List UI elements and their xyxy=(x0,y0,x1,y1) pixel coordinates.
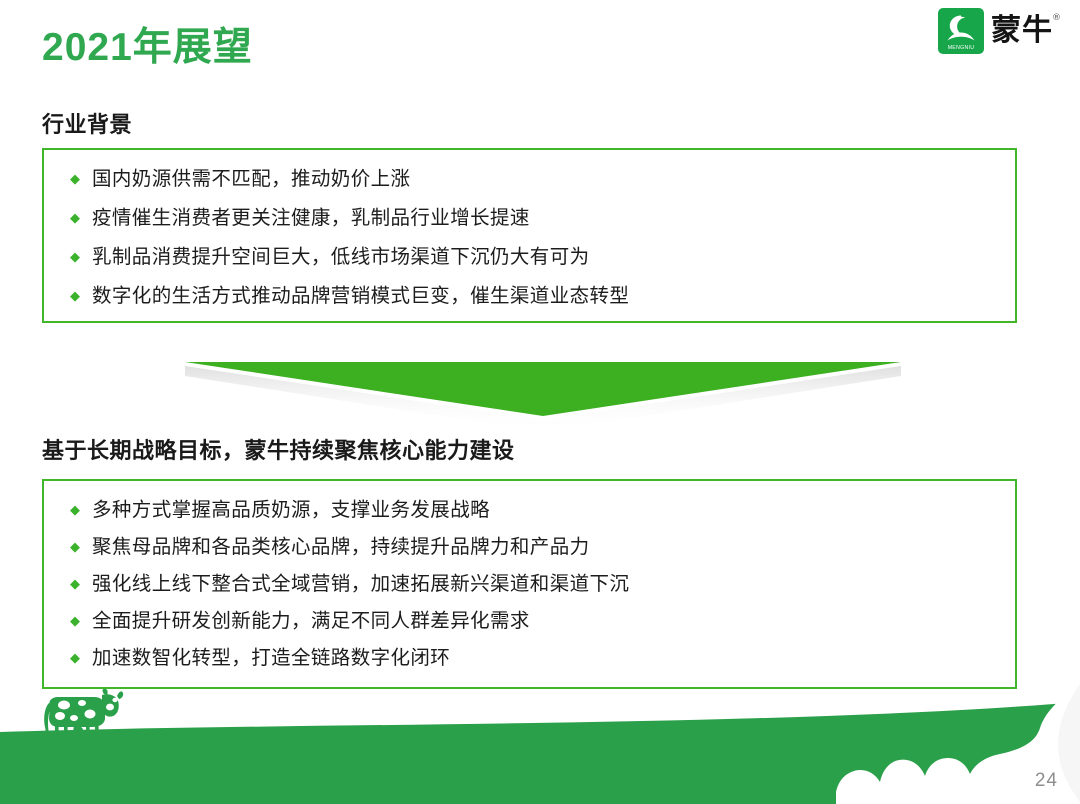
list-item: ◆ 聚焦母品牌和各品类核心品牌，持续提升品牌力和产品力 xyxy=(44,532,1015,569)
section-heading-strategy: 基于长期战略目标，蒙牛持续聚焦核心能力建设 xyxy=(42,438,515,464)
bullet-box-strategy: ◆ 多种方式掌握高品质奶源，支撑业务发展战略 ◆ 聚焦母品牌和各品类核心品牌，持… xyxy=(42,479,1017,689)
list-item: ◆ 疫情催生消费者更关注健康，乳制品行业增长提速 xyxy=(44,203,1015,242)
list-item: ◆ 乳制品消费提升空间巨大，低线市场渠道下沉仍大有可为 xyxy=(44,242,1015,281)
crescent-moon-icon: MENGNIU xyxy=(938,8,984,54)
mengniu-crescent-mark: MENGNIU xyxy=(938,8,984,54)
logo-mark-text: MENGNIU xyxy=(948,45,975,51)
down-chevron-divider xyxy=(185,358,901,434)
list-item-label: 多种方式掌握高品质奶源，支撑业务发展战略 xyxy=(92,495,490,525)
mengniu-logo: MENGNIU 蒙牛® xyxy=(938,8,1062,54)
slide-2021-outlook: MENGNIU 蒙牛® 2021年展望 行业背景 ◆ 国内奶源供需不匹配，推动奶… xyxy=(0,0,1080,804)
diamond-bullet-icon: ◆ xyxy=(68,643,92,673)
list-item-label: 聚焦母品牌和各品类核心品牌，持续提升品牌力和产品力 xyxy=(92,532,590,562)
list-item-label: 强化线上线下整合式全域营销，加速拓展新兴渠道和渠道下沉 xyxy=(92,569,629,599)
list-item-label: 全面提升研发创新能力，满足不同人群差异化需求 xyxy=(92,606,530,636)
section-heading-industry-background: 行业背景 xyxy=(42,112,132,138)
list-item-label: 数字化的生活方式推动品牌营销模式巨变，催生渠道业态转型 xyxy=(92,281,629,311)
page-title: 2021年展望 xyxy=(42,27,253,70)
mengniu-wordmark: 蒙牛® xyxy=(991,16,1062,46)
bottom-decoration: 24 xyxy=(0,684,1080,804)
list-item-label: 乳制品消费提升空间巨大，低线市场渠道下沉仍大有可为 xyxy=(92,242,590,272)
diamond-bullet-icon: ◆ xyxy=(68,164,92,194)
diamond-bullet-icon: ◆ xyxy=(68,569,92,599)
diamond-bullet-icon: ◆ xyxy=(68,532,92,562)
list-item-label: 国内奶源供需不匹配，推动奶价上涨 xyxy=(92,164,410,194)
diamond-bullet-icon: ◆ xyxy=(68,606,92,636)
page-number: 24 xyxy=(1035,770,1058,792)
list-item: ◆ 国内奶源供需不匹配，推动奶价上涨 xyxy=(44,164,1015,203)
list-item: ◆ 数字化的生活方式推动品牌营销模式巨变，催生渠道业态转型 xyxy=(44,281,1015,320)
logo-wordmark-text: 蒙牛 xyxy=(991,13,1053,48)
diamond-bullet-icon: ◆ xyxy=(68,281,92,311)
diamond-bullet-icon: ◆ xyxy=(68,495,92,525)
bullet-box-industry-background: ◆ 国内奶源供需不匹配，推动奶价上涨 ◆ 疫情催生消费者更关注健康，乳制品行业增… xyxy=(42,148,1017,323)
list-item: ◆ 加速数智化转型，打造全链路数字化闭环 xyxy=(44,643,1015,680)
registered-mark-icon: ® xyxy=(1052,14,1062,23)
diamond-bullet-icon: ◆ xyxy=(68,203,92,233)
list-item: ◆ 全面提升研发创新能力，满足不同人群差异化需求 xyxy=(44,606,1015,643)
cow-silhouette xyxy=(38,687,128,749)
down-chevron-icon xyxy=(185,358,901,434)
list-item-label: 疫情催生消费者更关注健康，乳制品行业增长提速 xyxy=(92,203,530,233)
green-grass-band xyxy=(0,684,1080,804)
list-item: ◆ 多种方式掌握高品质奶源，支撑业务发展战略 xyxy=(44,495,1015,532)
list-item: ◆ 强化线上线下整合式全域营销，加速拓展新兴渠道和渠道下沉 xyxy=(44,569,1015,606)
list-item-label: 加速数智化转型，打造全链路数字化闭环 xyxy=(92,643,450,673)
diamond-bullet-icon: ◆ xyxy=(68,242,92,272)
